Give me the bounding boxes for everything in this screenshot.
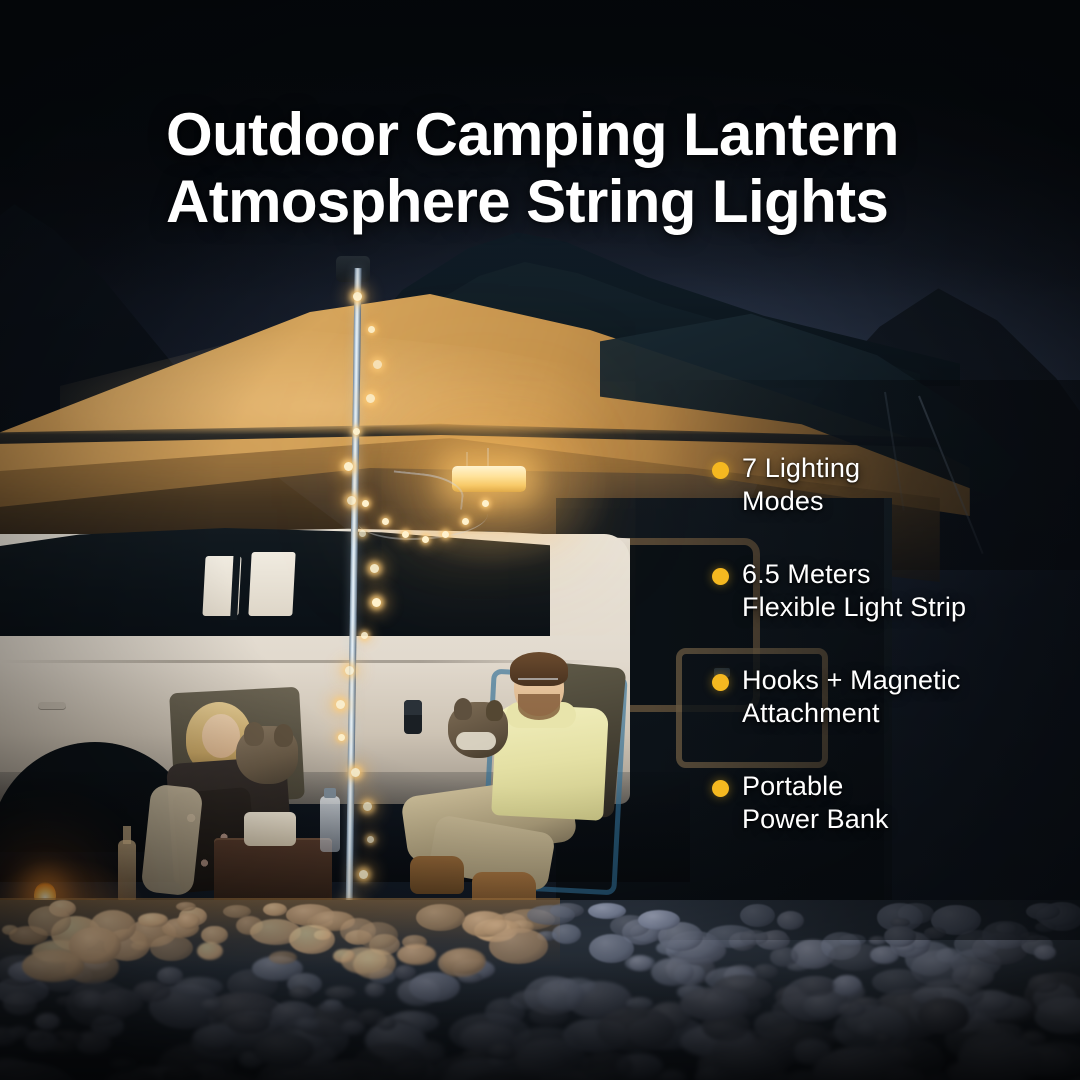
rock	[589, 934, 634, 963]
water-bottle-cap	[324, 788, 336, 798]
dot-bullet-icon	[712, 462, 729, 479]
rock	[289, 925, 335, 954]
string-light-bulb	[367, 836, 374, 843]
feature-item: Hooks + Magnetic Attachment	[712, 664, 1072, 730]
string-light-bulb	[373, 360, 382, 369]
page-title: Outdoor Camping Lantern Atmosphere Strin…	[166, 101, 956, 235]
rock	[740, 904, 774, 927]
string-light-bulb	[361, 632, 368, 639]
led-panel-lantern	[452, 466, 526, 492]
feature-label: Portable Power Bank	[742, 770, 1072, 836]
feature-label: 6.5 Meters Flexible Light Strip	[742, 558, 1072, 624]
man-beard	[518, 694, 560, 720]
rock	[416, 904, 465, 931]
van-window-rear	[248, 552, 295, 616]
dot-bullet-icon	[712, 568, 729, 585]
rock	[954, 930, 1000, 958]
feature-label: Hooks + Magnetic Attachment	[742, 664, 1072, 730]
dot-bullet-icon	[712, 674, 729, 691]
rock	[1034, 945, 1056, 960]
dot-bullet-icon	[712, 780, 729, 797]
crate-items	[244, 812, 296, 846]
string-light-bulb	[368, 326, 375, 333]
string-light-bulb	[382, 518, 389, 525]
rock	[138, 913, 168, 926]
string-light-bulb	[462, 518, 469, 525]
feature-item: 6.5 Meters Flexible Light Strip	[712, 558, 1072, 624]
pole-top-bracket	[336, 256, 370, 282]
dog-right-chest	[456, 732, 496, 750]
string-light-bulb	[422, 536, 429, 543]
van-vent-upper	[404, 700, 422, 715]
rock	[884, 926, 916, 947]
rock	[777, 911, 804, 930]
dog-left-ear	[244, 722, 264, 746]
woman-face	[202, 714, 240, 758]
water-bottle	[320, 796, 340, 852]
rock	[357, 922, 398, 948]
rock	[263, 903, 287, 916]
rock	[28, 906, 71, 936]
string-light-bulb	[372, 598, 381, 607]
feature-item: 7 Lighting Modes	[712, 452, 1072, 518]
string-light-bulb	[336, 700, 345, 709]
string-light-bulb	[482, 500, 489, 507]
rock	[638, 910, 680, 930]
dog-right-ear	[454, 698, 472, 720]
rock	[489, 928, 548, 964]
string-light-bulb	[366, 394, 375, 403]
feature-item: Portable Power Bank	[712, 770, 1072, 836]
rock	[197, 942, 223, 960]
string-light-bulb	[353, 292, 362, 301]
dog-right-ear-second	[486, 700, 503, 721]
string-light-bulb	[353, 428, 360, 435]
rock	[924, 927, 946, 939]
product-marketing-image: Outdoor Camping Lantern Atmosphere Strin…	[0, 0, 1080, 1080]
van-door-handle	[38, 702, 66, 709]
feature-list: 7 Lighting Modes6.5 Meters Flexible Ligh…	[712, 452, 1072, 836]
rock	[2, 925, 19, 935]
ground-vignette	[0, 960, 1080, 1080]
feature-label: 7 Lighting Modes	[742, 452, 1072, 518]
rock	[177, 913, 200, 929]
rock	[1035, 922, 1057, 933]
rock	[740, 930, 768, 944]
dog-left-ear-second	[274, 724, 293, 747]
van-body-crease	[0, 660, 600, 663]
rock	[150, 935, 193, 961]
string-light-bulb	[351, 768, 360, 777]
string-light-bulb	[362, 500, 369, 507]
rock	[527, 905, 574, 925]
man-boot-rear	[410, 856, 464, 894]
rock	[552, 924, 581, 944]
man-glasses	[518, 678, 558, 690]
